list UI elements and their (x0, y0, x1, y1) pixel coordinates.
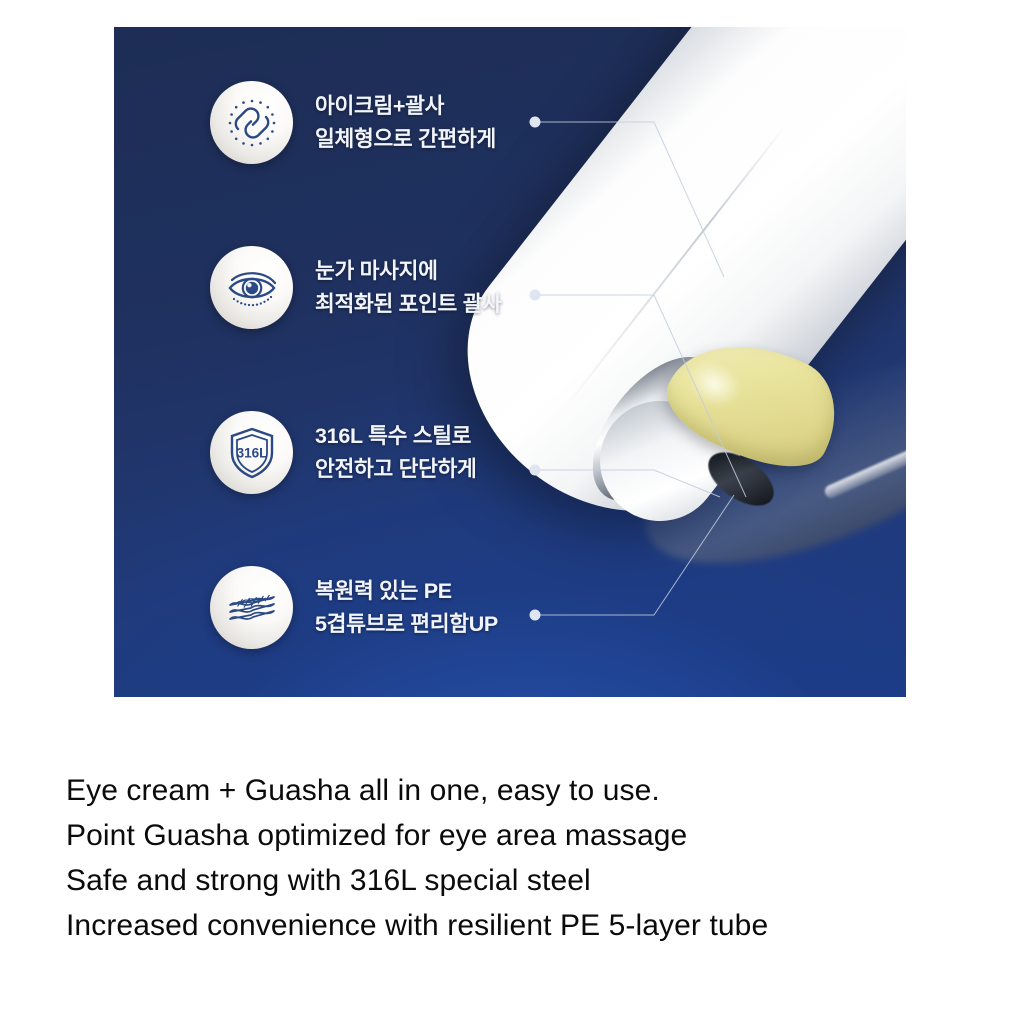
caption-line-3: Safe and strong with 316L special steel (66, 864, 591, 897)
feature-text-4: 복원력 있는 PE 5겹튜브로 편리함UP (315, 575, 498, 640)
feature-line-4b: 5겹튜브로 편리함UP (315, 612, 498, 636)
feature-item-3: 316L 316L 특수 스틸로 안전하고 단단하게 (210, 411, 477, 494)
shield-icon-label: 316L (236, 445, 267, 460)
feature-line-2b: 최적화된 포인트 괄사 (315, 292, 502, 316)
feature-item-2: 눈가 마사지에 최적화된 포인트 괄사 (210, 246, 502, 329)
caption-line-2: Point Guasha optimized for eye area mass… (66, 819, 687, 852)
chain-link-icon (210, 81, 293, 164)
feature-item-4: 복원력 있는 PE 5겹튜브로 편리함UP (210, 566, 498, 649)
caption-line-1: Eye cream + Guasha all in one, easy to u… (66, 774, 660, 807)
caption-line-4: Increased convenience with resilient PE … (66, 909, 768, 942)
layered-sheets-icon (210, 566, 293, 649)
caption-block: Eye cream + Guasha all in one, easy to u… (66, 768, 1006, 948)
feature-line-1b: 일체형으로 간편하게 (315, 127, 496, 151)
feature-text-2: 눈가 마사지에 최적화된 포인트 괄사 (315, 255, 502, 320)
feature-line-2a: 눈가 마사지에 (315, 259, 438, 283)
feature-line-1a: 아이크림+괄사 (315, 94, 444, 118)
shield-316l-icon: 316L (210, 411, 293, 494)
feature-text-3: 316L 특수 스틸로 안전하고 단단하게 (315, 420, 477, 485)
feature-line-3b: 안전하고 단단하게 (315, 457, 477, 481)
eye-icon (210, 246, 293, 329)
feature-item-1: 아이크림+괄사 일체형으로 간편하게 (210, 81, 496, 164)
feature-text-1: 아이크림+괄사 일체형으로 간편하게 (315, 90, 496, 155)
feature-line-4a: 복원력 있는 PE (315, 579, 452, 603)
product-feature-banner: 아이크림+괄사 일체형으로 간편하게 (114, 27, 906, 697)
feature-line-3a: 316L 특수 스틸로 (315, 424, 471, 448)
